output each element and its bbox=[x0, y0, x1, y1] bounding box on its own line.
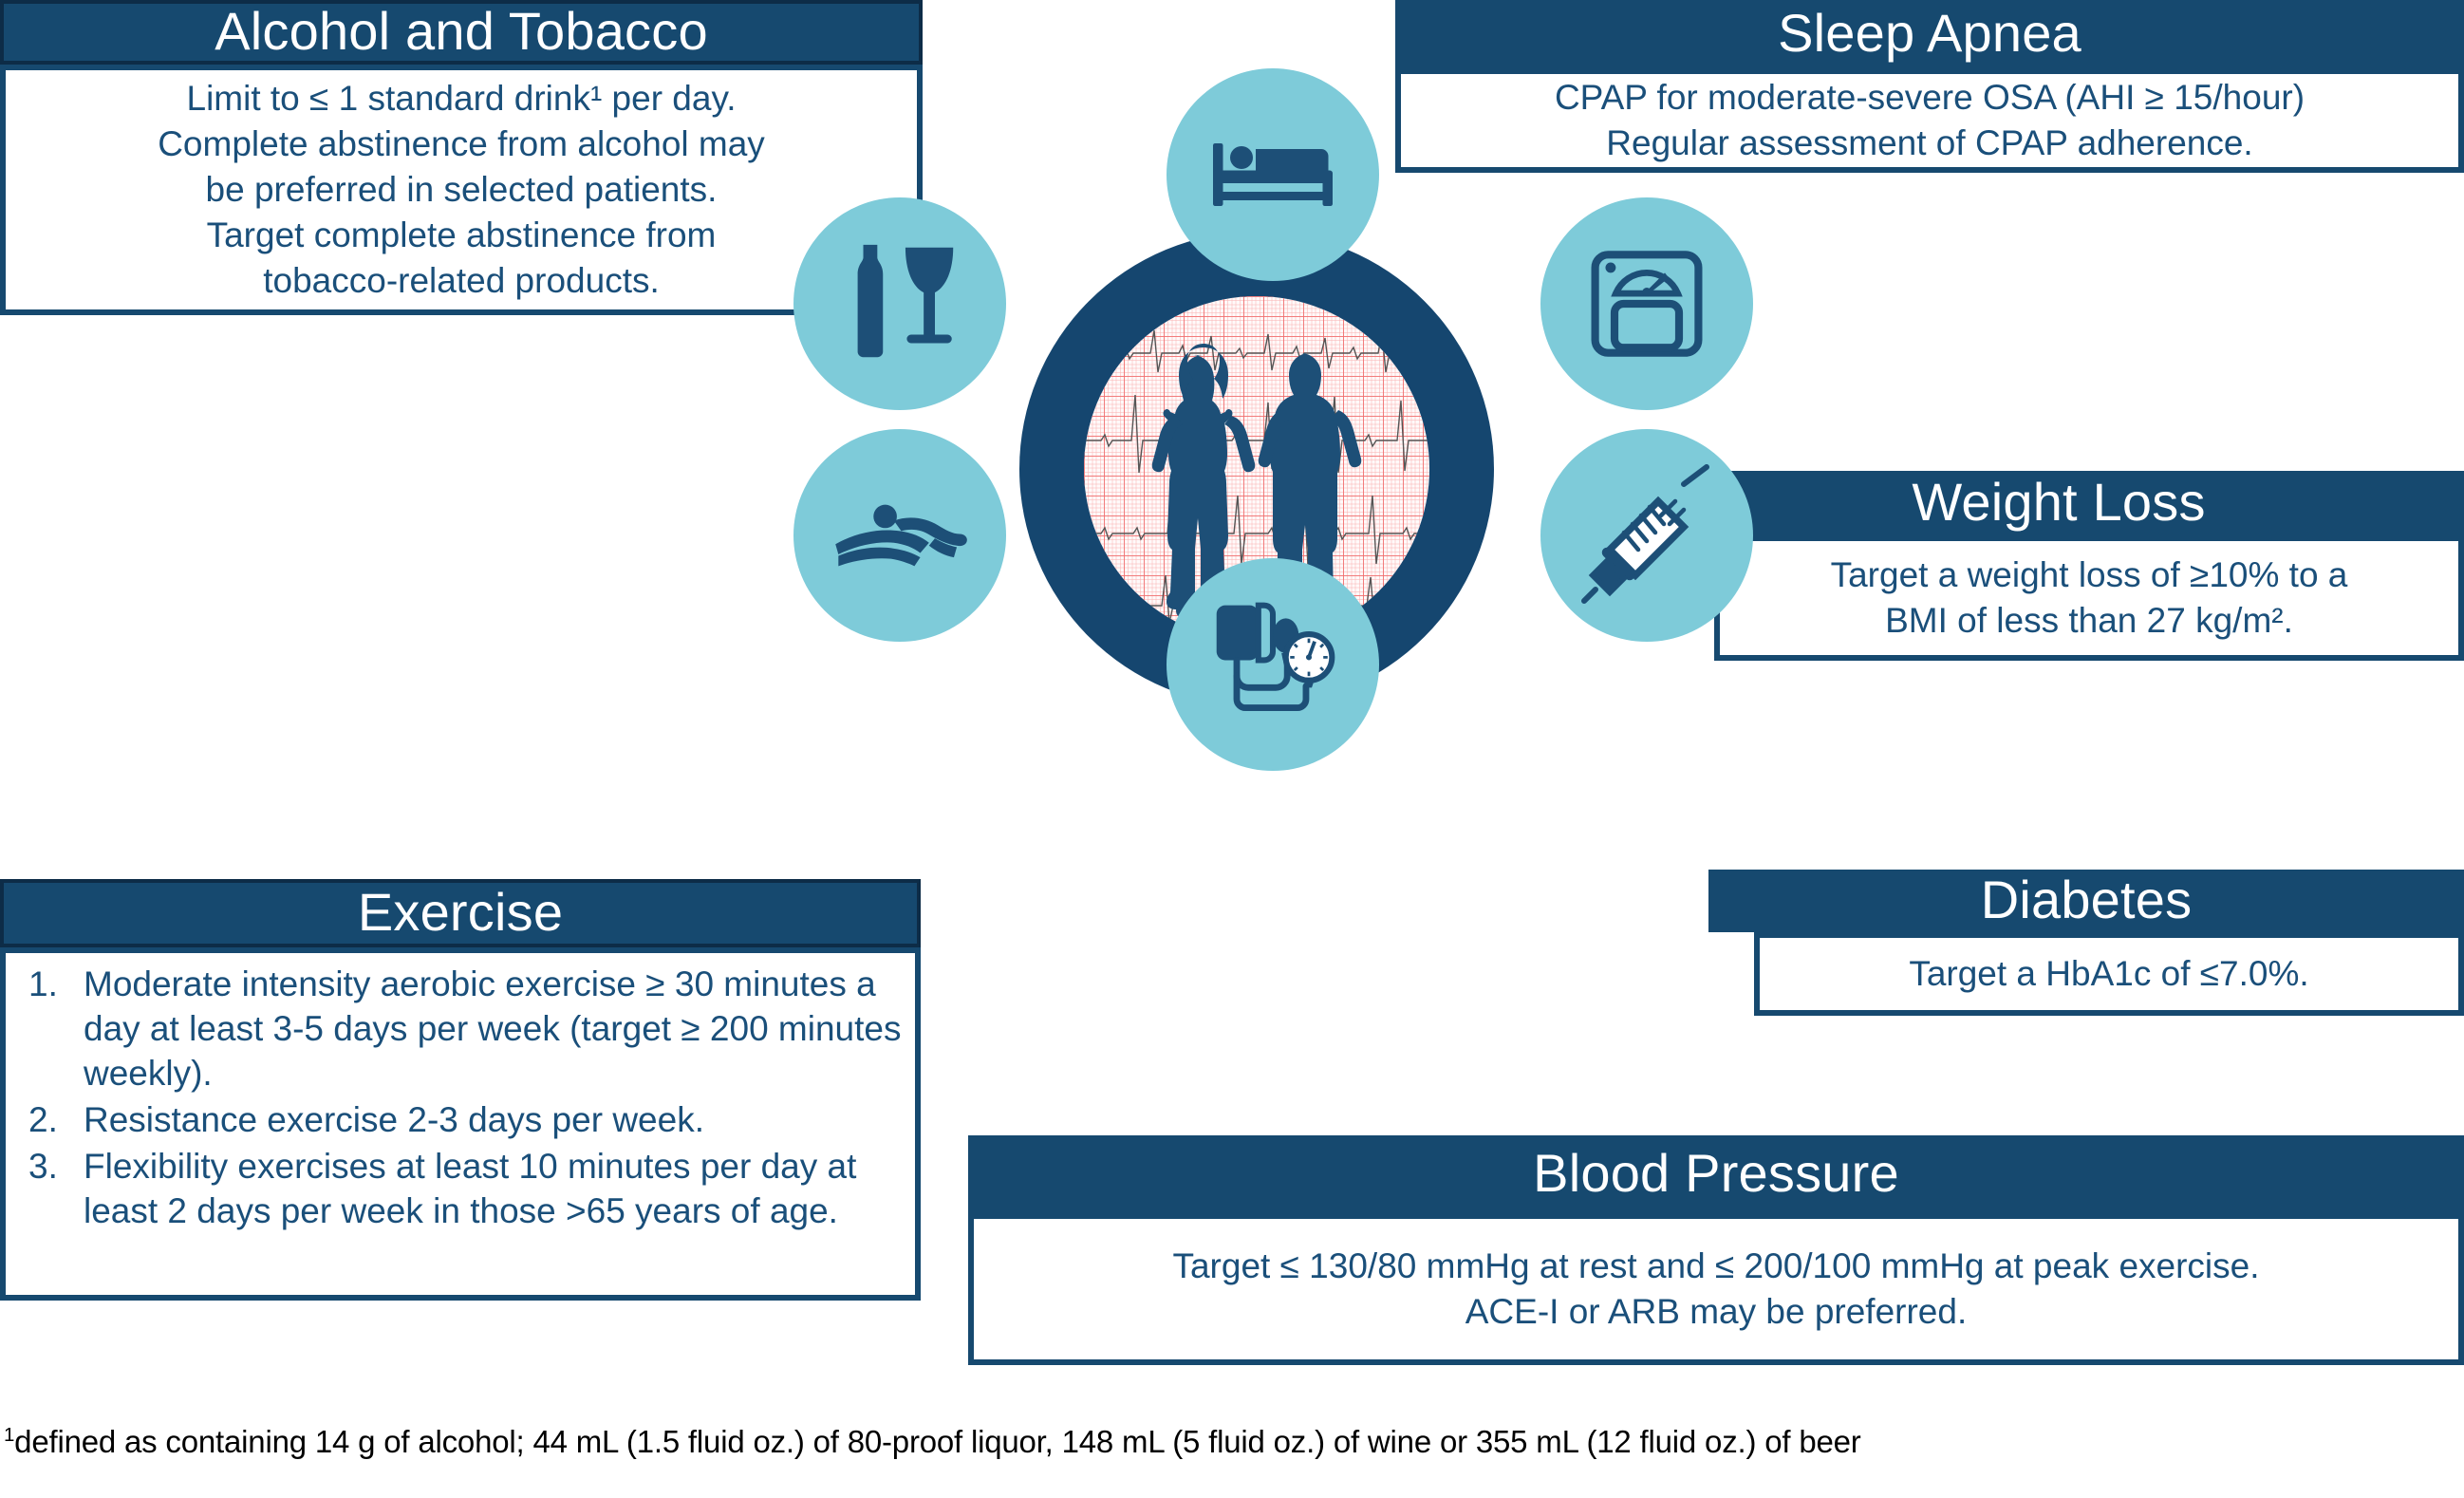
panel-exercise: Exercise Moderate intensity aerobic exer… bbox=[0, 879, 921, 1301]
sleep-line-2: Regular assessment of CPAP adherence. bbox=[1606, 121, 2252, 166]
alcohol-line-2: Complete abstinence from alcohol may bbox=[158, 122, 765, 167]
alcohol-line-3: be preferred in selected patients. bbox=[206, 167, 718, 213]
footnote-text: defined as containing 14 g of alcohol; 4… bbox=[14, 1424, 1860, 1459]
panel-title-diabetes: Diabetes bbox=[1708, 870, 2464, 932]
hub-icon-exercise bbox=[793, 429, 1006, 642]
list-item: Resistance exercise 2-3 days per week. bbox=[21, 1098, 907, 1143]
hub-icon-sleep-apnea bbox=[1167, 68, 1379, 281]
diabetes-line-1: Target a HbA1c of ≤7.0%. bbox=[1909, 951, 2308, 997]
panel-body-blood-pressure: Target ≤ 130/80 mmHg at rest and ≤ 200/1… bbox=[968, 1213, 2464, 1365]
list-item: Moderate intensity aerobic exercise ≥ 30… bbox=[21, 963, 907, 1096]
panel-body-sleep-apnea: CPAP for moderate-severe OSA (AHI ≥ 15/h… bbox=[1395, 68, 2464, 173]
panel-alcohol-and-tobacco: Alcohol and Tobacco Limit to ≤ 1 standar… bbox=[0, 0, 923, 315]
tobacco-line-2: tobacco-related products. bbox=[263, 258, 660, 304]
hub-icon-diabetes bbox=[1540, 429, 1753, 642]
panel-diabetes: Diabetes Target a HbA1c of ≤7.0%. bbox=[1708, 870, 2464, 1016]
blood-pressure-cuff-icon bbox=[1201, 592, 1345, 737]
hub-icon-weight-loss bbox=[1540, 197, 1753, 410]
bed-icon bbox=[1202, 103, 1344, 246]
weight-line-2: BMI of less than 27 kg/m². bbox=[1885, 598, 2293, 644]
panel-weight-loss: Weight Loss Target a weight loss of ≥10%… bbox=[1653, 471, 2464, 661]
panel-blood-pressure: Blood Pressure Target ≤ 130/80 mmHg at r… bbox=[968, 1135, 2464, 1365]
list-item: Flexibility exercises at least 10 minute… bbox=[21, 1145, 907, 1234]
tobacco-line-1: Target complete abstinence from bbox=[207, 213, 717, 258]
panel-title-alcohol-and-tobacco: Alcohol and Tobacco bbox=[0, 0, 923, 65]
sleep-line-1: CPAP for moderate-severe OSA (AHI ≥ 15/h… bbox=[1555, 75, 2305, 121]
weight-line-1: Target a weight loss of ≥10% to a bbox=[1831, 552, 2348, 598]
hub-icon-blood-pressure bbox=[1167, 558, 1379, 771]
panel-title-weight-loss: Weight Loss bbox=[1653, 471, 2464, 535]
panel-sleep-apnea: Sleep Apnea CPAP for moderate-severe OSA… bbox=[1395, 0, 2464, 173]
weight-scale-icon bbox=[1582, 239, 1711, 368]
footnote: 1defined as containing 14 g of alcohol; … bbox=[4, 1424, 2462, 1460]
hub-icon-alcohol-and-tobacco bbox=[793, 197, 1006, 410]
panel-title-exercise: Exercise bbox=[0, 879, 921, 947]
footnote-marker: 1 bbox=[4, 1424, 14, 1446]
panel-body-alcohol-and-tobacco: Limit to ≤ 1 standard drink¹ per day. Co… bbox=[0, 65, 923, 315]
bp-line-1: Target ≤ 130/80 mmHg at rest and ≤ 200/1… bbox=[1172, 1244, 2259, 1289]
panel-title-sleep-apnea: Sleep Apnea bbox=[1395, 0, 2464, 68]
exercise-recommendation-list: Moderate intensity aerobic exercise ≥ 30… bbox=[15, 963, 907, 1236]
swimmer-icon bbox=[827, 462, 973, 609]
bottle-and-wine-glass-icon bbox=[830, 234, 970, 374]
panel-title-blood-pressure: Blood Pressure bbox=[968, 1135, 2464, 1213]
panel-body-exercise: Moderate intensity aerobic exercise ≥ 30… bbox=[0, 947, 921, 1301]
syringe-icon bbox=[1576, 464, 1718, 607]
alcohol-line-1: Limit to ≤ 1 standard drink¹ per day. bbox=[187, 76, 737, 122]
panel-body-weight-loss: Target a weight loss of ≥10% to a BMI of… bbox=[1714, 535, 2464, 661]
panel-body-diabetes: Target a HbA1c of ≤7.0%. bbox=[1754, 932, 2464, 1016]
bp-line-2: ACE-I or ARB may be preferred. bbox=[1465, 1289, 1967, 1335]
